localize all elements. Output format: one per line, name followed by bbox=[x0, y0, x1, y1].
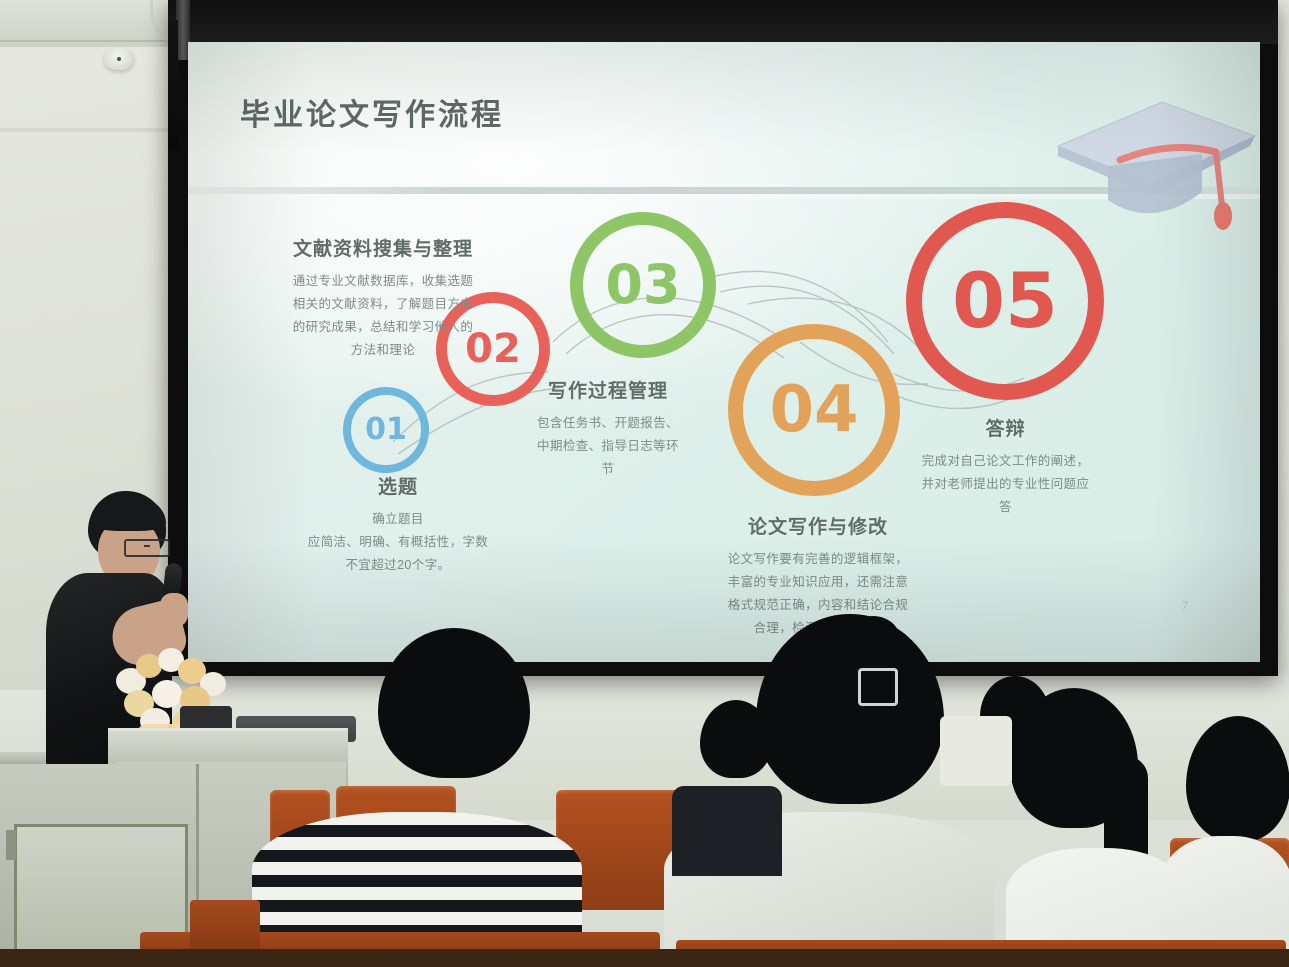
student-dark-shirt bbox=[672, 786, 782, 876]
step-text-03: 写作过程管理 包含任务书、开题报告、中期检查、指导日志等环节 bbox=[518, 376, 698, 481]
step-number-04: 04 bbox=[769, 378, 858, 442]
step-circle-05: 05 bbox=[906, 202, 1104, 400]
lecture-hall-photo: 毕业论文写作流程 bbox=[0, 0, 1289, 967]
step-text-05: 答辩 完成对自己论文工作的阐述，并对老师提出的专业性问题应答 bbox=[888, 414, 1123, 519]
presenter-hand bbox=[160, 593, 188, 627]
step-heading-02: 文献资料搜集与整理 bbox=[258, 234, 508, 261]
step-body-01: 确立题目应简洁、明确、有概括性，字数不宜超过20个字。 bbox=[293, 508, 503, 577]
step-number-05: 05 bbox=[952, 263, 1058, 339]
step-circle-03: 03 bbox=[570, 212, 716, 358]
glasses-icon bbox=[124, 539, 170, 557]
screen-left-hook bbox=[168, 20, 178, 150]
smoke-detector-icon bbox=[104, 48, 134, 70]
step-text-01: 选题 确立题目应简洁、明确、有概括性，字数不宜超过20个字。 bbox=[293, 472, 503, 577]
hair-clip-icon bbox=[858, 668, 898, 706]
step-number-03: 03 bbox=[605, 258, 680, 312]
step-body-03: 包含任务书、开题报告、中期检查、指导日志等环节 bbox=[518, 412, 698, 481]
step-heading-01: 选题 bbox=[293, 472, 503, 499]
step-body-05: 完成对自己论文工作的阐述，并对老师提出的专业性问题应答 bbox=[888, 450, 1123, 519]
student-head-right bbox=[1186, 716, 1289, 842]
presentation-slide: 毕业论文写作流程 bbox=[188, 42, 1260, 662]
floor bbox=[0, 949, 1289, 967]
step-heading-03: 写作过程管理 bbox=[518, 376, 698, 403]
slide-title: 毕业论文写作流程 bbox=[240, 90, 504, 134]
student-shoulder-far bbox=[940, 716, 1012, 786]
graduation-cap-icon bbox=[1050, 88, 1260, 233]
student-hair-bun bbox=[846, 616, 900, 662]
step-text-02: 文献资料搜集与整理 通过专业文献数据库，收集选题相关的文献资料，了解题目方向的研… bbox=[258, 234, 508, 363]
slide-page-number: 7 bbox=[1182, 598, 1189, 614]
cabinet-handle bbox=[6, 830, 16, 860]
step-circle-04: 04 bbox=[728, 324, 900, 496]
screen-top-casing bbox=[168, 0, 1278, 44]
step-circle-01: 01 bbox=[343, 387, 429, 473]
step-body-02: 通过专业文献数据库，收集选题相关的文献资料，了解题目方向的研究成果，总结和学习他… bbox=[258, 270, 508, 363]
step-number-01: 01 bbox=[365, 415, 407, 445]
student-head-far-1 bbox=[700, 700, 772, 778]
step-heading-05: 答辩 bbox=[888, 414, 1123, 441]
